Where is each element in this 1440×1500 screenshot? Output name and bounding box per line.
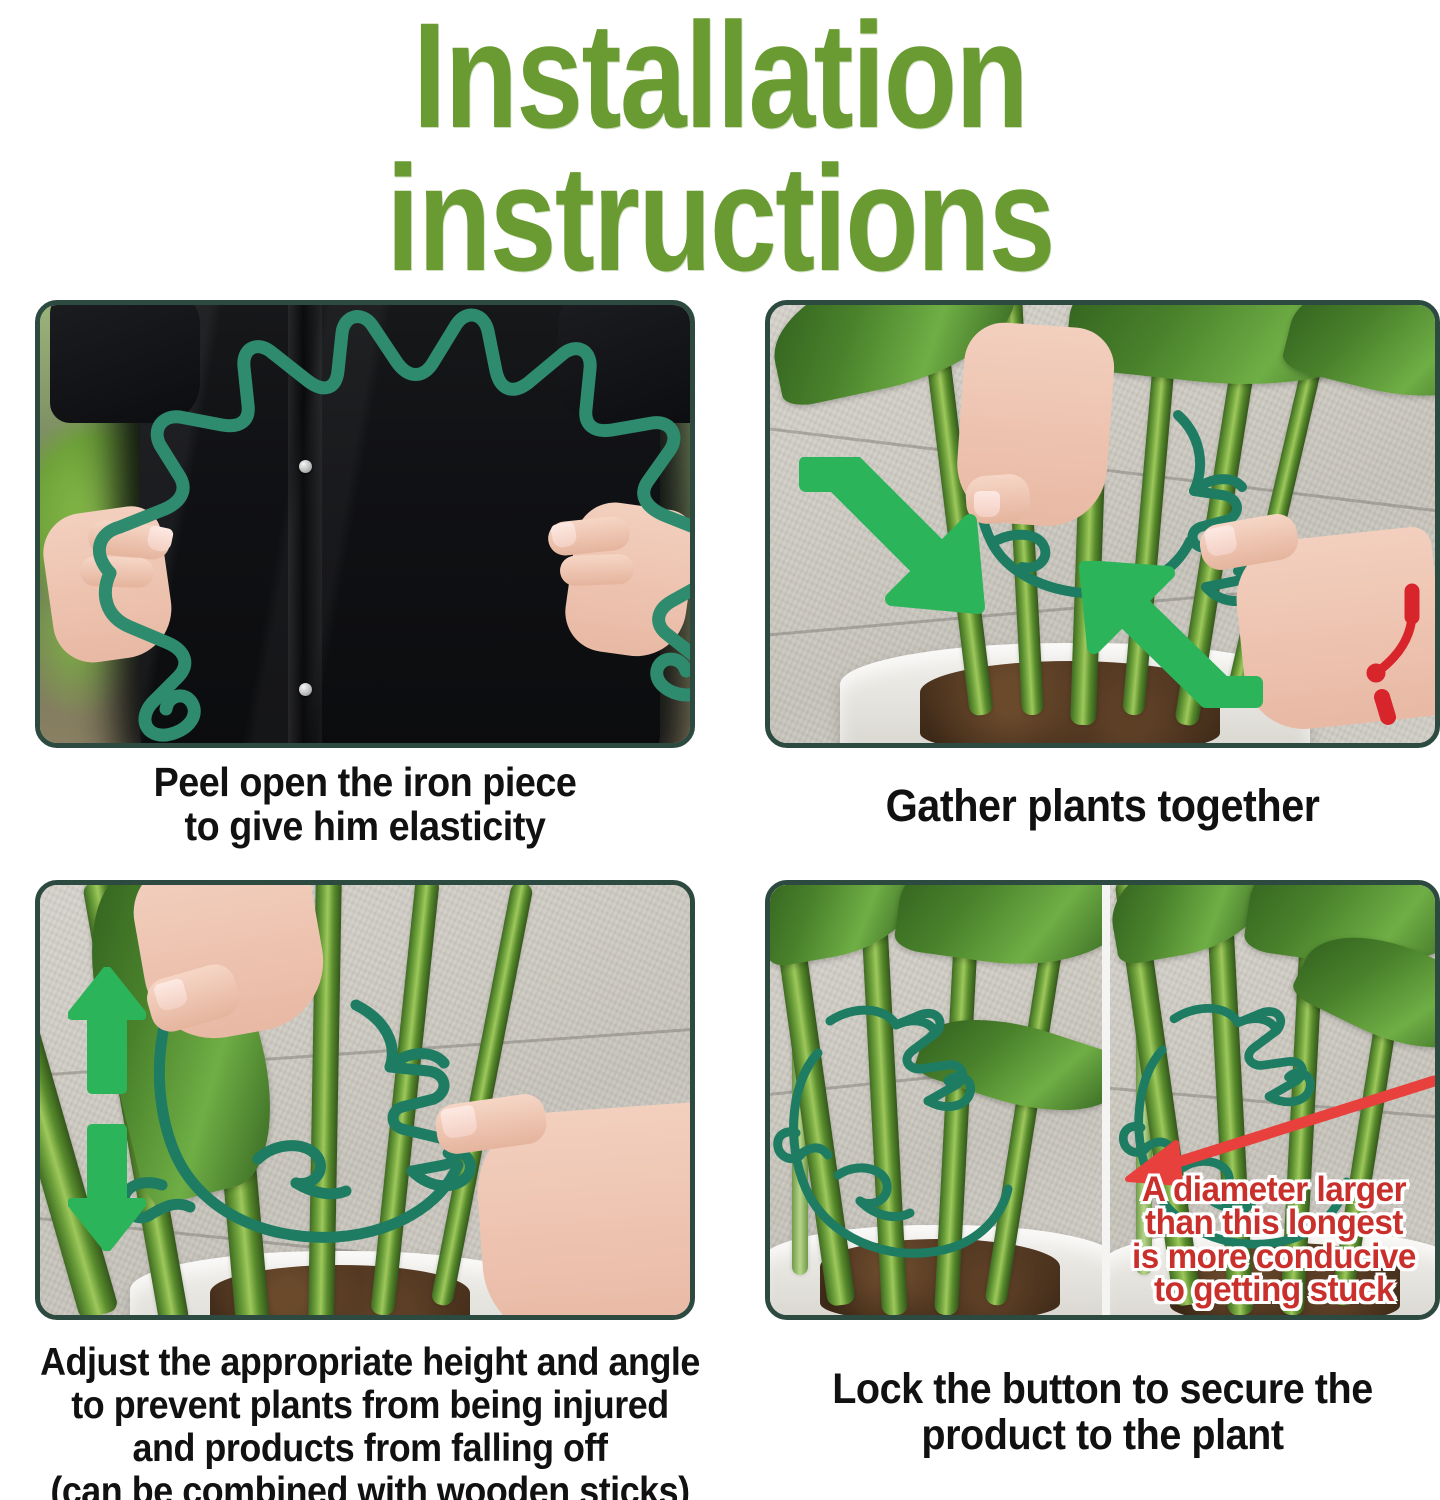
- page-title: Installation instructions: [144, 4, 1296, 289]
- leaf-wire-clip: [40, 305, 690, 743]
- green-arrow-up-left-icon: [1070, 561, 1270, 721]
- step-1-panel: [35, 300, 695, 748]
- green-arrow-up-icon: [68, 967, 146, 1095]
- step-3-photo: [40, 885, 690, 1315]
- step-3-caption: Adjust the appropriate height and angle …: [30, 1342, 711, 1500]
- green-arrow-down-right-icon: [792, 457, 1002, 637]
- step-4-photo-left: [770, 885, 1102, 1315]
- comparison-divider: [1102, 885, 1110, 1315]
- step-2-caption: Gather plants together: [792, 782, 1413, 831]
- green-arrow-down-icon: [68, 1123, 146, 1251]
- infographic-page: Installation instructions: [0, 0, 1440, 1500]
- step-2-photo: [770, 305, 1435, 743]
- step-4-photo-right: A diameter larger than this longest is m…: [1110, 885, 1435, 1315]
- step-3-panel: [35, 880, 695, 1320]
- step-1-caption: Peel open the iron piece to give him ela…: [61, 760, 668, 849]
- step-4-caption: Lock the button to secure the product to…: [792, 1366, 1413, 1459]
- diameter-warning-text: A diameter larger than this longest is m…: [1113, 1173, 1436, 1306]
- step-4-panel: A diameter larger than this longest is m…: [765, 880, 1440, 1320]
- leaf-wire-clip-locked: [770, 885, 1102, 1315]
- step-1-photo: [40, 305, 690, 743]
- step-2-panel: [765, 300, 1440, 748]
